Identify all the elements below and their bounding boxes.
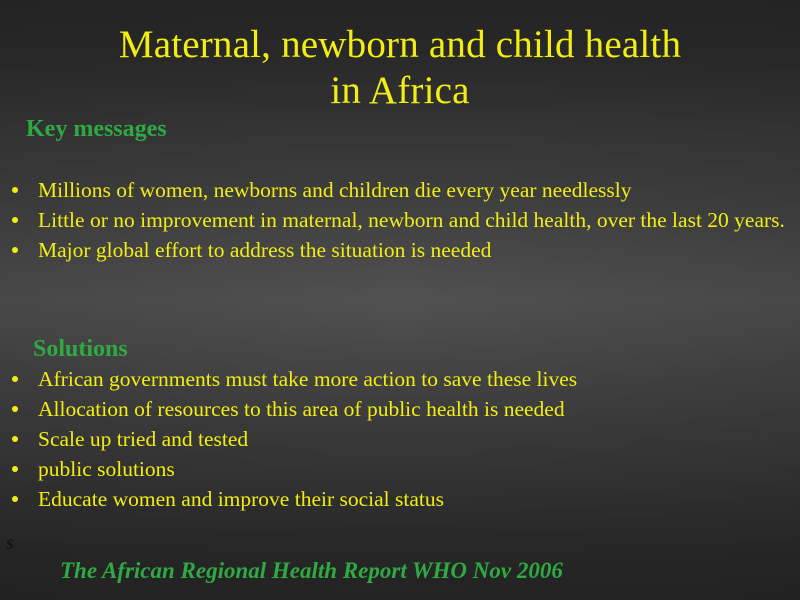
bullet-dot-icon xyxy=(12,466,18,472)
bullet-text: Scale up tried and tested xyxy=(38,427,790,451)
bullet-text: Major global effort to address the situa… xyxy=(38,238,790,262)
list-item: public solutions xyxy=(0,457,790,481)
bullet-dot-icon xyxy=(12,436,18,442)
slide-title-line-2: in Africa xyxy=(0,68,800,114)
bullet-dot-icon xyxy=(12,406,18,412)
bullet-list-solutions: African governments must take more actio… xyxy=(0,367,790,517)
stray-letter: s xyxy=(6,532,14,554)
slide-title-line-1: Maternal, newborn and child health xyxy=(0,22,800,68)
list-item: Major global effort to address the situa… xyxy=(0,238,790,262)
bullet-dot-icon xyxy=(12,217,18,223)
list-item: Scale up tried and tested xyxy=(0,427,790,451)
bullet-dot-icon xyxy=(12,187,18,193)
list-item: Allocation of resources to this area of … xyxy=(0,397,790,421)
bullet-text: African governments must take more actio… xyxy=(38,367,790,391)
bullet-text: Allocation of resources to this area of … xyxy=(38,397,790,421)
list-item: Educate women and improve their social s… xyxy=(0,487,790,511)
bullet-dot-icon xyxy=(12,496,18,502)
list-item: Little or no improvement in maternal, ne… xyxy=(0,208,790,232)
bullet-text: Little or no improvement in maternal, ne… xyxy=(38,208,790,232)
bullet-list-key-messages: Millions of women, newborns and children… xyxy=(0,178,790,268)
slide-title: Maternal, newborn and child health in Af… xyxy=(0,22,800,114)
bullet-text: Educate women and improve their social s… xyxy=(38,487,790,511)
list-item: African governments must take more actio… xyxy=(0,367,790,391)
presentation-slide: Maternal, newborn and child health in Af… xyxy=(0,0,800,600)
section-heading-solutions: Solutions xyxy=(33,335,128,363)
footer-source-citation: The African Regional Health Report WHO N… xyxy=(60,557,563,584)
bullet-dot-icon xyxy=(12,376,18,382)
bullet-dot-icon xyxy=(12,247,18,253)
bullet-text: public solutions xyxy=(38,457,790,481)
list-item: Millions of women, newborns and children… xyxy=(0,178,790,202)
bullet-text: Millions of women, newborns and children… xyxy=(38,178,790,202)
section-heading-key-messages: Key messages xyxy=(26,115,167,143)
